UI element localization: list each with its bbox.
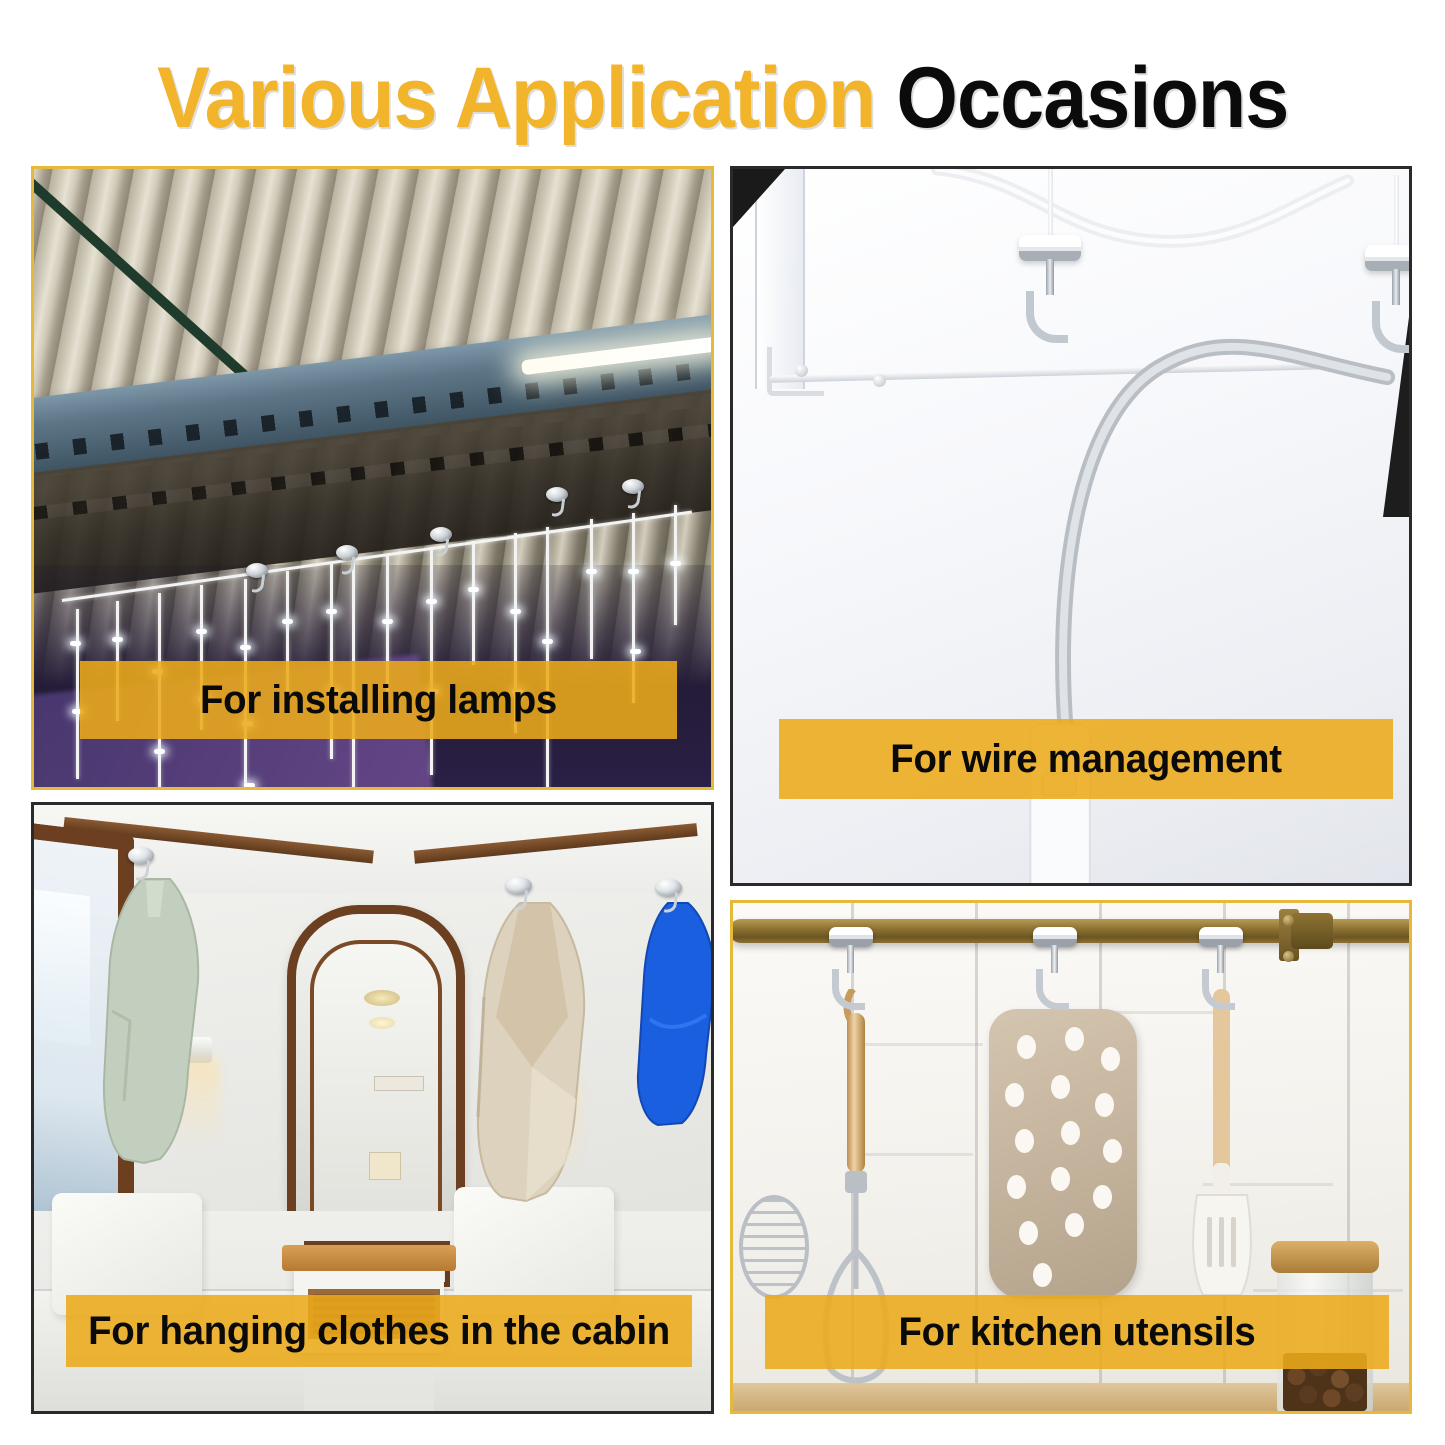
led-bulb [382,619,393,624]
led-bulb [630,649,641,654]
mitt-dot [1051,1167,1070,1191]
magnetic-hook-icon [336,545,358,560]
icicle-strand [76,609,79,779]
panel-wire-management[interactable]: For wire management [730,166,1412,886]
rod-end-cap [1291,913,1333,949]
mitt-dot [1093,1185,1112,1209]
panel-caption-kitchen-utensils: For kitchen utensils [765,1295,1389,1369]
hook-magnet-base [1033,927,1077,947]
beige-jacket [472,897,612,1207]
mitt-dot [1101,1047,1120,1071]
led-bulb [112,637,123,642]
jar-wooden-lid [1271,1241,1379,1273]
icicle-strand [590,519,593,659]
caption-text: For kitchen utensils [777,1310,1376,1355]
mitt-dot [1017,1035,1036,1059]
led-bulb [326,609,337,614]
title-space [875,50,896,146]
mitt-dot [1095,1093,1114,1117]
hook-stem [1392,269,1400,305]
magnetic-hook-icon [430,527,452,542]
led-bulb [244,783,255,787]
title-highlight: Various Application [157,50,875,146]
reflected-wall-plate [374,1076,424,1091]
led-bulb [154,749,165,754]
led-bulb [542,639,553,644]
title-emphasis: Occasions [896,50,1288,146]
hook-magnet-base [1365,245,1409,271]
led-bulb [70,641,81,646]
led-bulb [628,569,639,574]
hook-hanging-wire [1394,175,1399,249]
screw-head-icon [1283,915,1294,926]
mitt-dot [1065,1213,1084,1237]
page-title: Various Application Occasions [0,52,1445,144]
led-bulb [240,645,251,650]
reflected-ceiling-lamp [364,990,400,1006]
led-bulb [510,609,521,614]
led-bulb [586,569,597,574]
mitt-dot [1007,1175,1026,1199]
hook-magnet-base [1199,927,1243,947]
white-spatula [1185,989,1265,1319]
caption-text: For installing lamps [92,678,665,723]
led-bulb [468,587,479,592]
screw-head-icon [1283,951,1294,962]
led-bulb [670,561,681,566]
blue-towel [630,899,711,1131]
magnetic-hook-icon [656,879,682,896]
led-bulb [196,629,207,634]
polka-dot-oven-mitt [989,1009,1137,1299]
infographic-canvas: Various Application Occasions [0,0,1445,1445]
mitt-dot [1015,1129,1034,1153]
hook-stem [1046,259,1054,295]
reflected-light-switch [369,1152,401,1180]
panel-hanging-clothes-cabin[interactable]: For hanging clothes in the cabin [31,802,714,1414]
reflected-downlight [369,1017,395,1029]
panel-caption-wire-management: For wire management [779,719,1393,799]
mitt-dot [1061,1121,1080,1145]
mitt-dot [1019,1221,1038,1245]
hook-magnet-base [1019,235,1081,261]
icicle-strand [546,527,549,787]
mitt-dot [1103,1139,1122,1163]
panel-caption-installing-lamps: For installing lamps [80,661,677,739]
hook-magnet-base [829,927,873,947]
caption-text: For wire management [791,737,1380,782]
magnetic-hook-icon [506,877,532,894]
magnetic-hook-icon [246,563,268,578]
magnetic-hook-icon [546,487,568,502]
sage-shirt [100,871,230,1171]
table-top-wood [282,1245,456,1271]
caption-text: For hanging clothes in the cabin [79,1309,680,1354]
mitt-dot [1033,1263,1052,1287]
hook-hanging-wire [1048,169,1053,239]
icicle-strand [472,541,475,665]
led-bulb [282,619,293,624]
magnetic-hook-icon [622,479,644,494]
mitt-dot [1051,1075,1070,1099]
title-line: Various Application Occasions [157,52,1288,144]
panel-kitchen-utensils[interactable]: For kitchen utensils [730,900,1412,1414]
led-bulb [426,599,437,604]
panel-caption-hanging-clothes: For hanging clothes in the cabin [66,1295,692,1367]
window-glass [34,889,90,1046]
wire-whisk [739,1195,809,1299]
magnetic-hook-icon [128,847,154,864]
mitt-dot [1005,1083,1024,1107]
panel-installing-lamps[interactable]: For installing lamps [31,166,714,790]
mitt-dot [1065,1027,1084,1051]
